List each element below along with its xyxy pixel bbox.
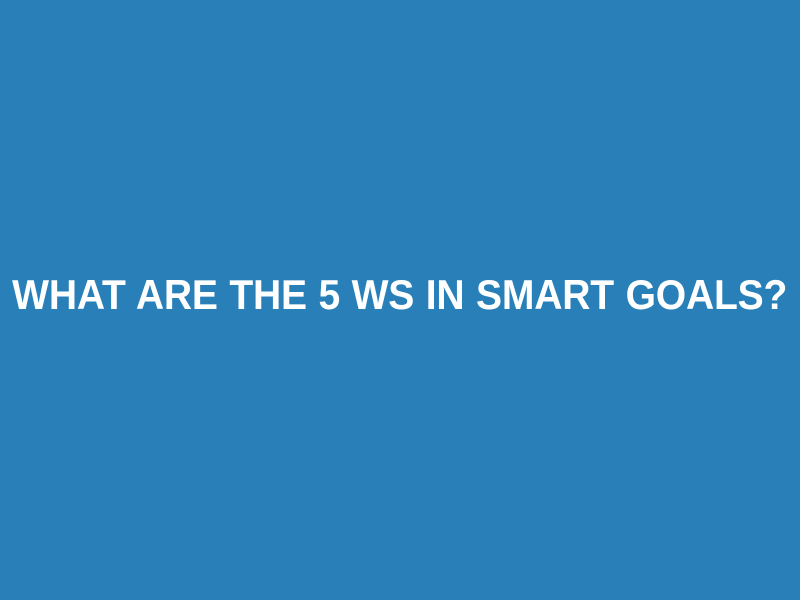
title-card: WHAT ARE THE 5 WS IN SMART GOALS? [0,0,800,600]
page-title: WHAT ARE THE 5 WS IN SMART GOALS? [12,273,787,317]
headline-block: WHAT ARE THE 5 WS IN SMART GOALS? [0,273,800,317]
